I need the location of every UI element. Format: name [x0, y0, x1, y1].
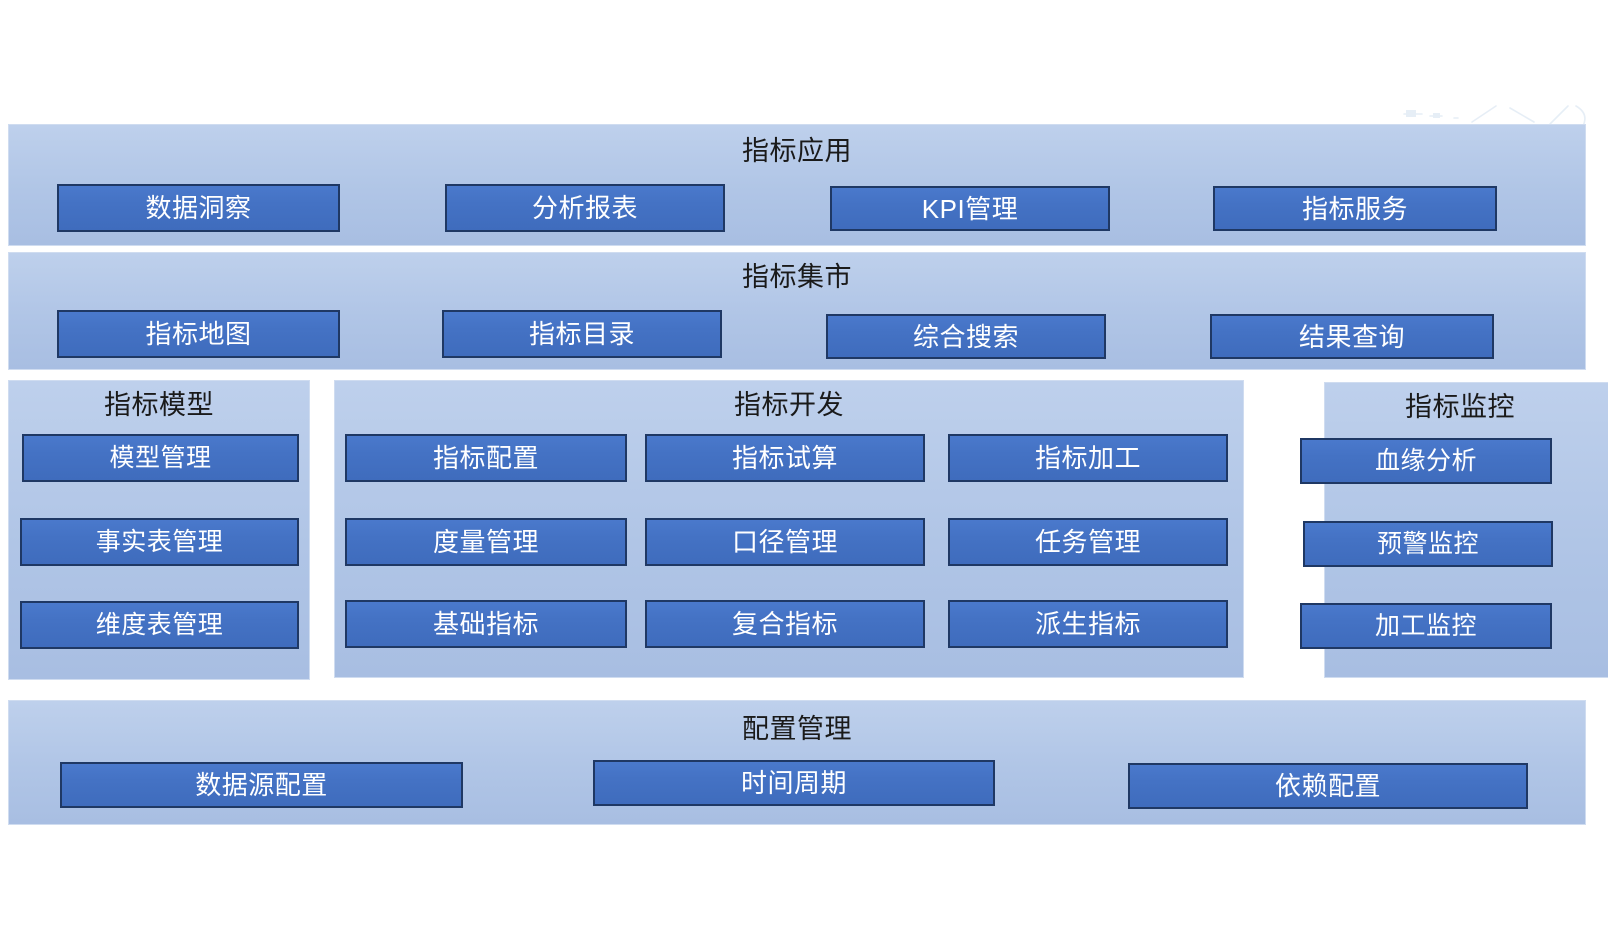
module-button-comprehensive-search[interactable]: 综合搜索	[826, 314, 1106, 359]
module-button-indicator-service[interactable]: 指标服务	[1213, 186, 1497, 231]
module-button-analysis-report[interactable]: 分析报表	[445, 184, 725, 232]
module-button-model-management[interactable]: 模型管理	[22, 434, 299, 482]
module-button-basic-indicator[interactable]: 基础指标	[345, 600, 627, 648]
layer-title-indicator-development: 指标开发	[335, 389, 1243, 421]
module-button-dimension-table-management[interactable]: 维度表管理	[20, 601, 299, 649]
layer-title-indicator-marketplace: 指标集市	[9, 261, 1585, 293]
architecture-diagram-canvas: 指标应用 数据洞察 分析报表 KPI管理 指标服务 指标集市 指标地图 指标目录…	[0, 0, 1608, 940]
module-button-fact-table-management[interactable]: 事实表管理	[20, 518, 299, 566]
module-button-processing-monitoring[interactable]: 加工监控	[1300, 603, 1552, 649]
module-button-indicator-processing[interactable]: 指标加工	[948, 434, 1228, 482]
module-button-kpi-management[interactable]: KPI管理	[830, 186, 1110, 231]
layer-title-indicator-monitoring: 指标监控	[1325, 391, 1595, 423]
module-button-indicator-map[interactable]: 指标地图	[57, 310, 340, 358]
module-button-caliber-management[interactable]: 口径管理	[645, 518, 925, 566]
module-button-datasource-configuration[interactable]: 数据源配置	[60, 762, 463, 808]
layer-title-indicator-model: 指标模型	[9, 389, 309, 421]
module-button-indicator-trial-calculation[interactable]: 指标试算	[645, 434, 925, 482]
module-button-lineage-analysis[interactable]: 血缘分析	[1300, 438, 1552, 484]
module-button-dependency-configuration[interactable]: 依赖配置	[1128, 763, 1528, 809]
module-button-derived-indicator[interactable]: 派生指标	[948, 600, 1228, 648]
module-button-data-insight[interactable]: 数据洞察	[57, 184, 340, 232]
module-button-result-query[interactable]: 结果查询	[1210, 314, 1494, 359]
module-button-indicator-configuration[interactable]: 指标配置	[345, 434, 627, 482]
module-button-time-period[interactable]: 时间周期	[593, 760, 995, 806]
module-button-composite-indicator[interactable]: 复合指标	[645, 600, 925, 648]
module-button-measure-management[interactable]: 度量管理	[345, 518, 627, 566]
module-button-alert-monitoring[interactable]: 预警监控	[1303, 521, 1553, 567]
module-button-indicator-catalog[interactable]: 指标目录	[442, 310, 722, 358]
layer-title-indicator-application: 指标应用	[9, 135, 1585, 167]
module-button-task-management[interactable]: 任务管理	[948, 518, 1228, 566]
layer-title-configuration-management: 配置管理	[9, 713, 1585, 745]
